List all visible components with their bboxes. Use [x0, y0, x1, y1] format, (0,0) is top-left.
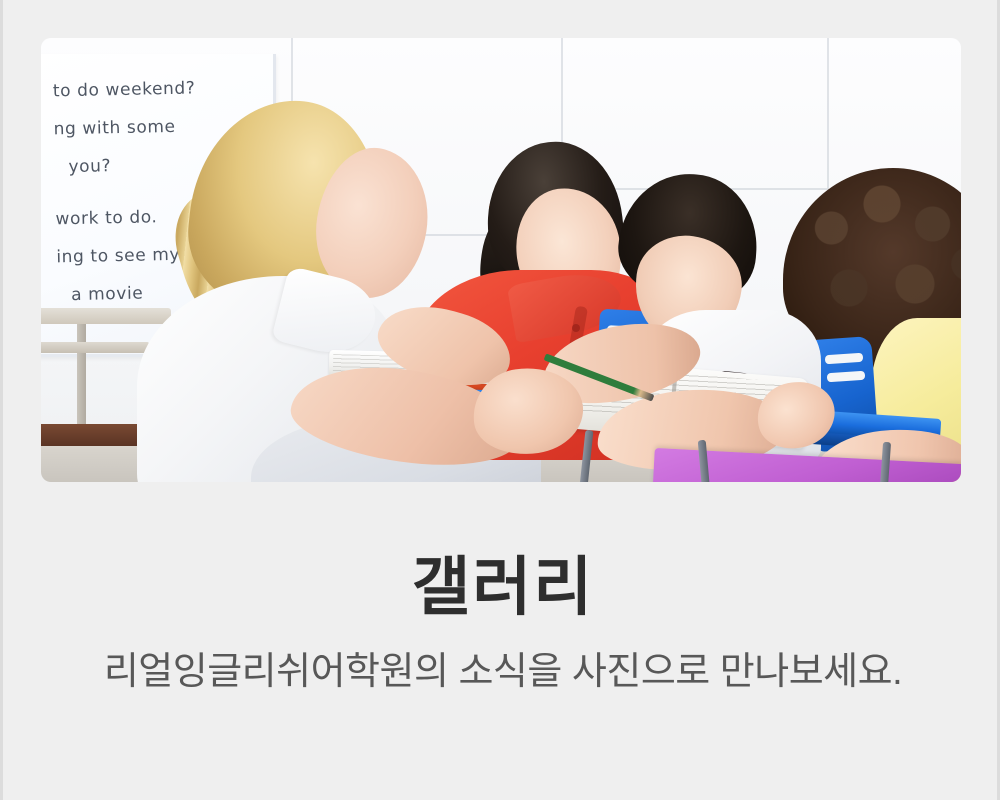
whiteboard-line: to do weekend?: [52, 68, 283, 111]
background-desk: [41, 342, 149, 353]
classroom-scene: to do weekend? ng with some you? work to…: [41, 38, 961, 482]
gallery-page: to do weekend? ng with some you? work to…: [0, 0, 1000, 800]
page-title: 갤러리: [3, 552, 1000, 624]
page-subtitle: 리얼잉글리쉬어학원의 소식을 사진으로 만나보세요.: [3, 650, 1000, 696]
girl-shirt-button: [572, 324, 580, 332]
gallery-heading-block: 갤러리 리얼잉글리쉬어학원의 소식을 사진으로 만나보세요.: [3, 552, 1000, 695]
gallery-hero-image: to do weekend? ng with some you? work to…: [41, 38, 961, 482]
wall-seam: [827, 38, 829, 208]
background-desk: [41, 308, 171, 324]
